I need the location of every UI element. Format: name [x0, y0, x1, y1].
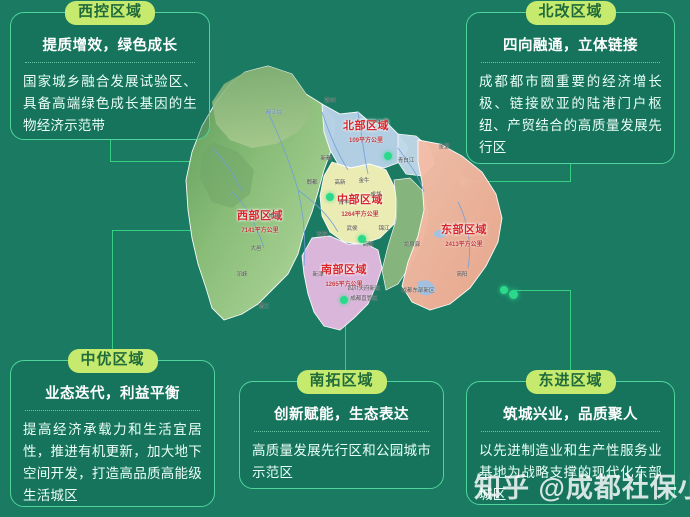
card-title-beigai: 四向融通，立体链接 — [479, 34, 662, 55]
card-desc-xikong: 国家城乡融合发展试验区、具备高端绿色成长基因的生物经济示范带 — [23, 71, 197, 137]
map-region-center — [320, 162, 398, 244]
info-card-zhongyou[interactable]: 中优区域 业态迭代，利益平衡 提高经济承载力和生活宜居性，推进有机更新，加大地下… — [10, 360, 215, 507]
poster-canvas: 北部区域 109平方公里 西部区域 7141平方公里 中部区域 1264平方公里… — [0, 0, 690, 517]
card-divider — [481, 431, 660, 432]
card-desc-beigai: 成都都市圈重要的经济增长极、链接欧亚的陆港门户枢纽、产贸结合的高质量发展先行区 — [479, 71, 662, 158]
card-desc-nantuo: 高质量发展先行区和公园城市示范区 — [252, 440, 431, 484]
map-dot-north — [384, 152, 392, 160]
connector-line-beigai-vertical — [570, 164, 571, 182]
card-title-nantuo: 创新赋能，生态表达 — [252, 403, 431, 424]
card-title-zhongyou: 业态迭代，利益平衡 — [23, 382, 202, 403]
info-card-dongjin[interactable]: 东进区域 筑城兴业，品质聚人 以先进制造业和生产性服务业基地为战略支撑的现代化东… — [466, 381, 675, 505]
card-badge-beigai: 北改区域 — [525, 1, 615, 25]
info-card-nantuo[interactable]: 南拓区域 创新赋能，生态表达 高质量发展先行区和公园城市示范区 — [239, 381, 444, 489]
map-dot-south — [340, 296, 348, 304]
connector-line-zhongyou-vertical — [112, 230, 113, 360]
card-title-xikong: 提质增效，绿色成长 — [23, 34, 197, 55]
map-dot-east — [500, 286, 508, 294]
card-divider — [25, 410, 200, 411]
card-badge-dongjin: 东进区域 — [525, 370, 615, 394]
card-title-dongjin: 筑城兴业，品质聚人 — [479, 403, 662, 424]
map-lake-1 — [434, 230, 446, 238]
info-card-beigai[interactable]: 北改区域 四向融通，立体链接 成都都市圈重要的经济增长极、链接欧亚的陆港门户枢纽… — [466, 12, 675, 164]
connector-line-dongjin-vertical — [570, 290, 571, 381]
map-dot-west — [326, 193, 334, 201]
card-divider — [25, 62, 195, 63]
map-dot-center — [358, 235, 366, 243]
card-divider — [254, 431, 429, 432]
card-desc-dongjin: 以先进制造业和生产性服务业基地为战略支撑的现代化东部城区 — [479, 440, 662, 506]
card-divider — [481, 62, 660, 63]
info-card-xikong[interactable]: 西控区域 提质增效，绿色成长 国家城乡融合发展试验区、具备高端绿色成长基因的生物… — [10, 12, 210, 140]
card-badge-nantuo: 南拓区域 — [296, 370, 386, 394]
card-badge-zhongyou: 中优区域 — [67, 349, 157, 373]
card-badge-xikong: 西控区域 — [65, 1, 155, 25]
map-region-south — [302, 236, 382, 330]
connector-line-xikong-vertical — [110, 140, 111, 162]
card-desc-zhongyou: 提高经济承载力和生活宜居性，推进有机更新，加大地下空间开发，打造高品质高能级生活… — [23, 419, 202, 506]
